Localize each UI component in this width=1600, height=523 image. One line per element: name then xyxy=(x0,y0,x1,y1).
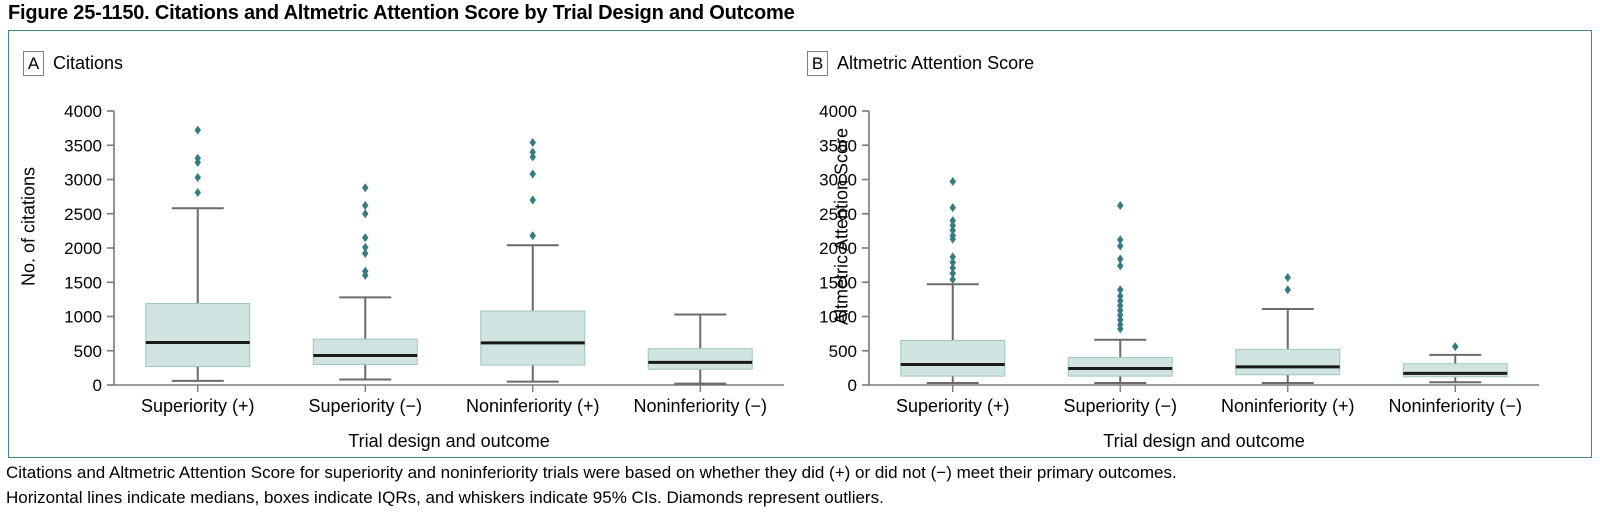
panel-b-plot: 05001000150020002500300035004000Superior… xyxy=(799,31,1593,459)
x-tick-label: Superiority (+) xyxy=(141,396,255,416)
box-iqr xyxy=(901,340,1005,376)
box-plot-group xyxy=(481,138,585,382)
outlier-marker xyxy=(195,126,201,135)
x-tick-label: Superiority (+) xyxy=(896,396,1010,416)
y-tick-label: 500 xyxy=(74,342,102,361)
box-iqr xyxy=(1068,358,1172,376)
x-tick-label: Noninferiority (+) xyxy=(1221,396,1355,416)
x-tick-label: Noninferiority (+) xyxy=(466,396,600,416)
outlier-marker xyxy=(530,196,536,205)
box-iqr xyxy=(1236,349,1340,374)
outlier-marker xyxy=(1285,285,1291,294)
outlier-marker xyxy=(530,152,536,161)
y-tick-label: 2500 xyxy=(64,205,102,224)
box-plot-group xyxy=(1236,273,1340,383)
outlier-marker xyxy=(362,249,368,258)
y-tick-label: 1500 xyxy=(64,273,102,292)
outlier-marker xyxy=(950,275,956,284)
figure-page: Figure 25-1150. Citations and Altmetric … xyxy=(0,0,1600,523)
panel-b-y-axis-label: Altmetric Attention Score xyxy=(832,82,853,372)
y-tick-label: 0 xyxy=(848,376,857,395)
outlier-marker xyxy=(1285,273,1291,282)
figure-title: Figure 25-1150. Citations and Altmetric … xyxy=(8,2,795,25)
box-iqr xyxy=(146,303,250,366)
box-plot-group xyxy=(1068,201,1172,383)
y-tick-label: 0 xyxy=(93,376,102,395)
outlier-marker xyxy=(950,177,956,186)
outlier-marker xyxy=(530,138,536,147)
box-plot-group xyxy=(901,177,1005,383)
outlier-marker xyxy=(362,183,368,192)
figure-caption: Citations and Altmetric Attention Score … xyxy=(6,461,1586,510)
outlier-marker xyxy=(530,170,536,179)
outlier-marker xyxy=(1117,201,1123,210)
panel-a-plot: 05001000150020002500300035004000Superior… xyxy=(9,31,799,459)
y-tick-label: 1000 xyxy=(64,308,102,327)
box-iqr xyxy=(648,349,752,370)
x-axis-label: Trial design and outcome xyxy=(348,431,549,451)
y-tick-label: 4000 xyxy=(64,102,102,121)
box-plot-group xyxy=(648,314,752,383)
box-plot-group xyxy=(313,183,417,379)
box-plot-group xyxy=(1403,342,1507,382)
panel-a: A Citations 0500100015002000250030003500… xyxy=(9,31,799,457)
x-tick-label: Noninferiority (−) xyxy=(1388,396,1522,416)
caption-line-2: Horizontal lines indicate medians, boxes… xyxy=(6,486,1586,511)
y-tick-label: 3000 xyxy=(64,171,102,190)
box-plot-group xyxy=(146,126,250,381)
outlier-marker xyxy=(1452,342,1458,351)
caption-line-1: Citations and Altmetric Attention Score … xyxy=(6,461,1586,486)
outlier-marker xyxy=(195,188,201,197)
outlier-marker xyxy=(195,173,201,182)
outlier-marker xyxy=(1117,241,1123,250)
y-tick-label: 3500 xyxy=(64,136,102,155)
x-axis-label: Trial design and outcome xyxy=(1103,431,1304,451)
outlier-marker xyxy=(362,233,368,242)
panel-b: B Altmetric Attention Score 050010001500… xyxy=(799,31,1593,457)
x-tick-label: Superiority (−) xyxy=(1063,396,1177,416)
outlier-marker xyxy=(950,203,956,212)
x-tick-label: Noninferiority (−) xyxy=(633,396,767,416)
y-tick-label: 2000 xyxy=(64,239,102,258)
outlier-marker xyxy=(1117,261,1123,270)
outlier-marker xyxy=(362,201,368,210)
figure-frame: A Citations 0500100015002000250030003500… xyxy=(8,30,1592,458)
box-iqr xyxy=(313,339,417,364)
x-tick-label: Superiority (−) xyxy=(308,396,422,416)
box-iqr xyxy=(481,311,585,365)
outlier-marker xyxy=(362,209,368,218)
panel-a-y-axis-label: No. of citations xyxy=(19,127,40,327)
outlier-marker xyxy=(530,231,536,240)
